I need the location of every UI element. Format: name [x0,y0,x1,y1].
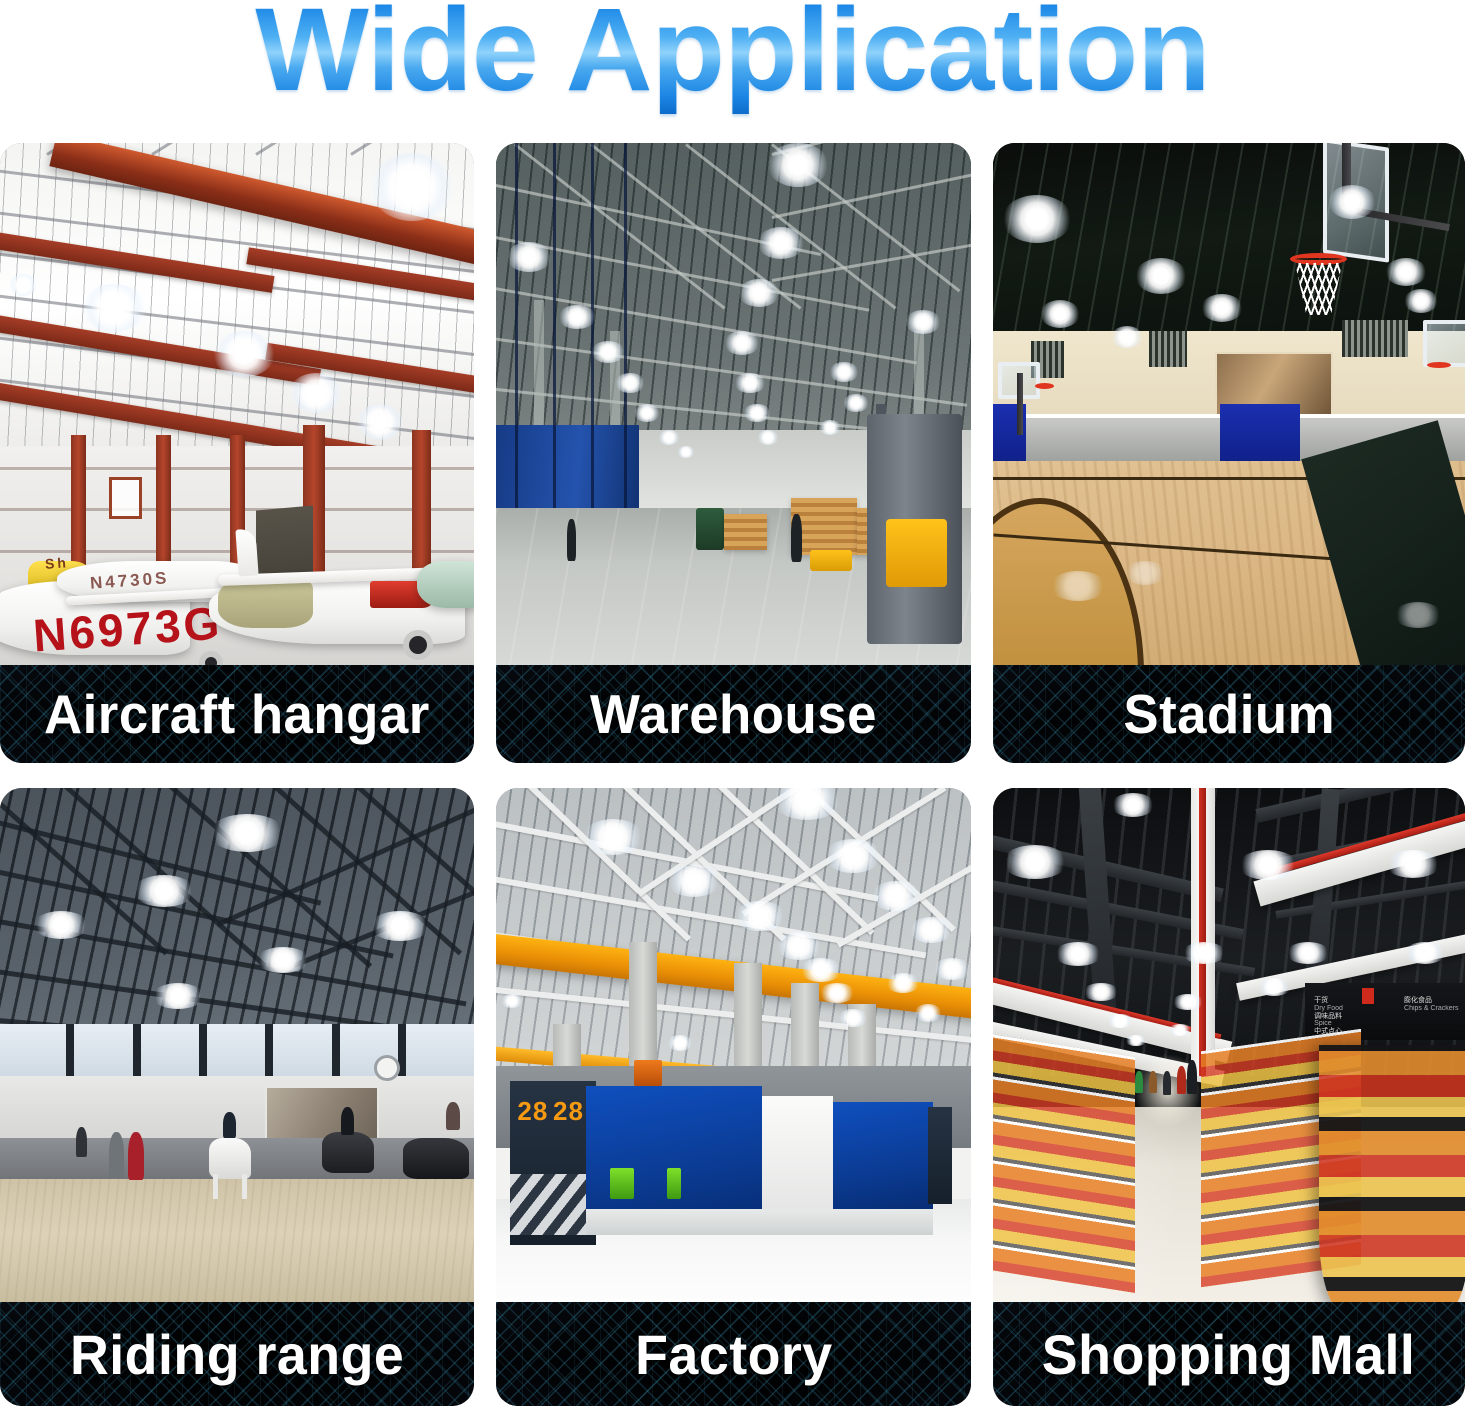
sign-line-right-2: Chips & Crackers [1404,1004,1458,1013]
tile-label-text: Aircraft hangar [44,682,430,746]
tile-riding-range[interactable]: Riding range [0,788,474,1406]
tile-warehouse[interactable]: Warehouse [496,143,971,763]
tile-shopping-mall[interactable]: 干货 Dry Food 调味品料 Spice 中式点心 膨化食品 Chips &… [993,788,1465,1406]
tile-label-text: Factory [635,1322,833,1387]
photo-shopping-mall: 干货 Dry Food 调味品料 Spice 中式点心 膨化食品 Chips &… [993,788,1465,1302]
high-bay-light [289,373,343,413]
high-bay-light [9,274,37,296]
high-bay-light [370,153,454,221]
high-bay-light [213,331,275,377]
tile-label-text: Stadium [1123,682,1335,746]
grid-gap [474,788,496,1406]
sign-red-marker [1362,988,1374,1004]
photo-warehouse [496,143,971,665]
application-tile-grid: N6973G N4730S Sh Aircraft hangar [0,143,1465,1406]
page-title: Wide Application [0,0,1465,114]
tile-label-bar: Aircraft hangar [0,665,474,763]
grid-gap [971,143,993,763]
grid-gap [971,788,993,1406]
machine-number-right: 28 [553,1096,584,1127]
grid-gap [474,143,496,763]
photo-factory: 28 28 [496,788,971,1302]
machine-number-left: 28 [517,1096,548,1127]
wide-application-infographic: Wide Application Wide Application [0,0,1465,1412]
tile-label-bar: Warehouse [496,665,971,763]
tile-label-bar: Riding range [0,1302,474,1406]
tile-label-text: Riding range [70,1322,404,1387]
plane-decal-text: Sh [44,555,69,573]
high-bay-light [356,404,404,440]
tile-label-text: Warehouse [590,682,877,746]
tile-stadium[interactable]: Stadium [993,143,1465,763]
tile-factory[interactable]: 28 28 Factory [496,788,971,1406]
tile-label-text: Shopping Mall [1042,1322,1416,1387]
photo-stadium [993,143,1465,665]
tile-label-bar: Shopping Mall [993,1302,1465,1406]
high-bay-light [81,284,147,332]
tile-label-bar: Factory [496,1302,971,1406]
aisle-sign: 干货 Dry Food 调味品料 Spice 中式点心 膨化食品 Chips &… [1305,983,1465,1040]
photo-riding-range [0,788,474,1302]
photo-aircraft-hangar: N6973G N4730S Sh [0,143,474,665]
grid-row-gap [0,763,1465,788]
tile-aircraft-hangar[interactable]: N6973G N4730S Sh Aircraft hangar [0,143,474,763]
tile-label-bar: Stadium [993,665,1465,763]
